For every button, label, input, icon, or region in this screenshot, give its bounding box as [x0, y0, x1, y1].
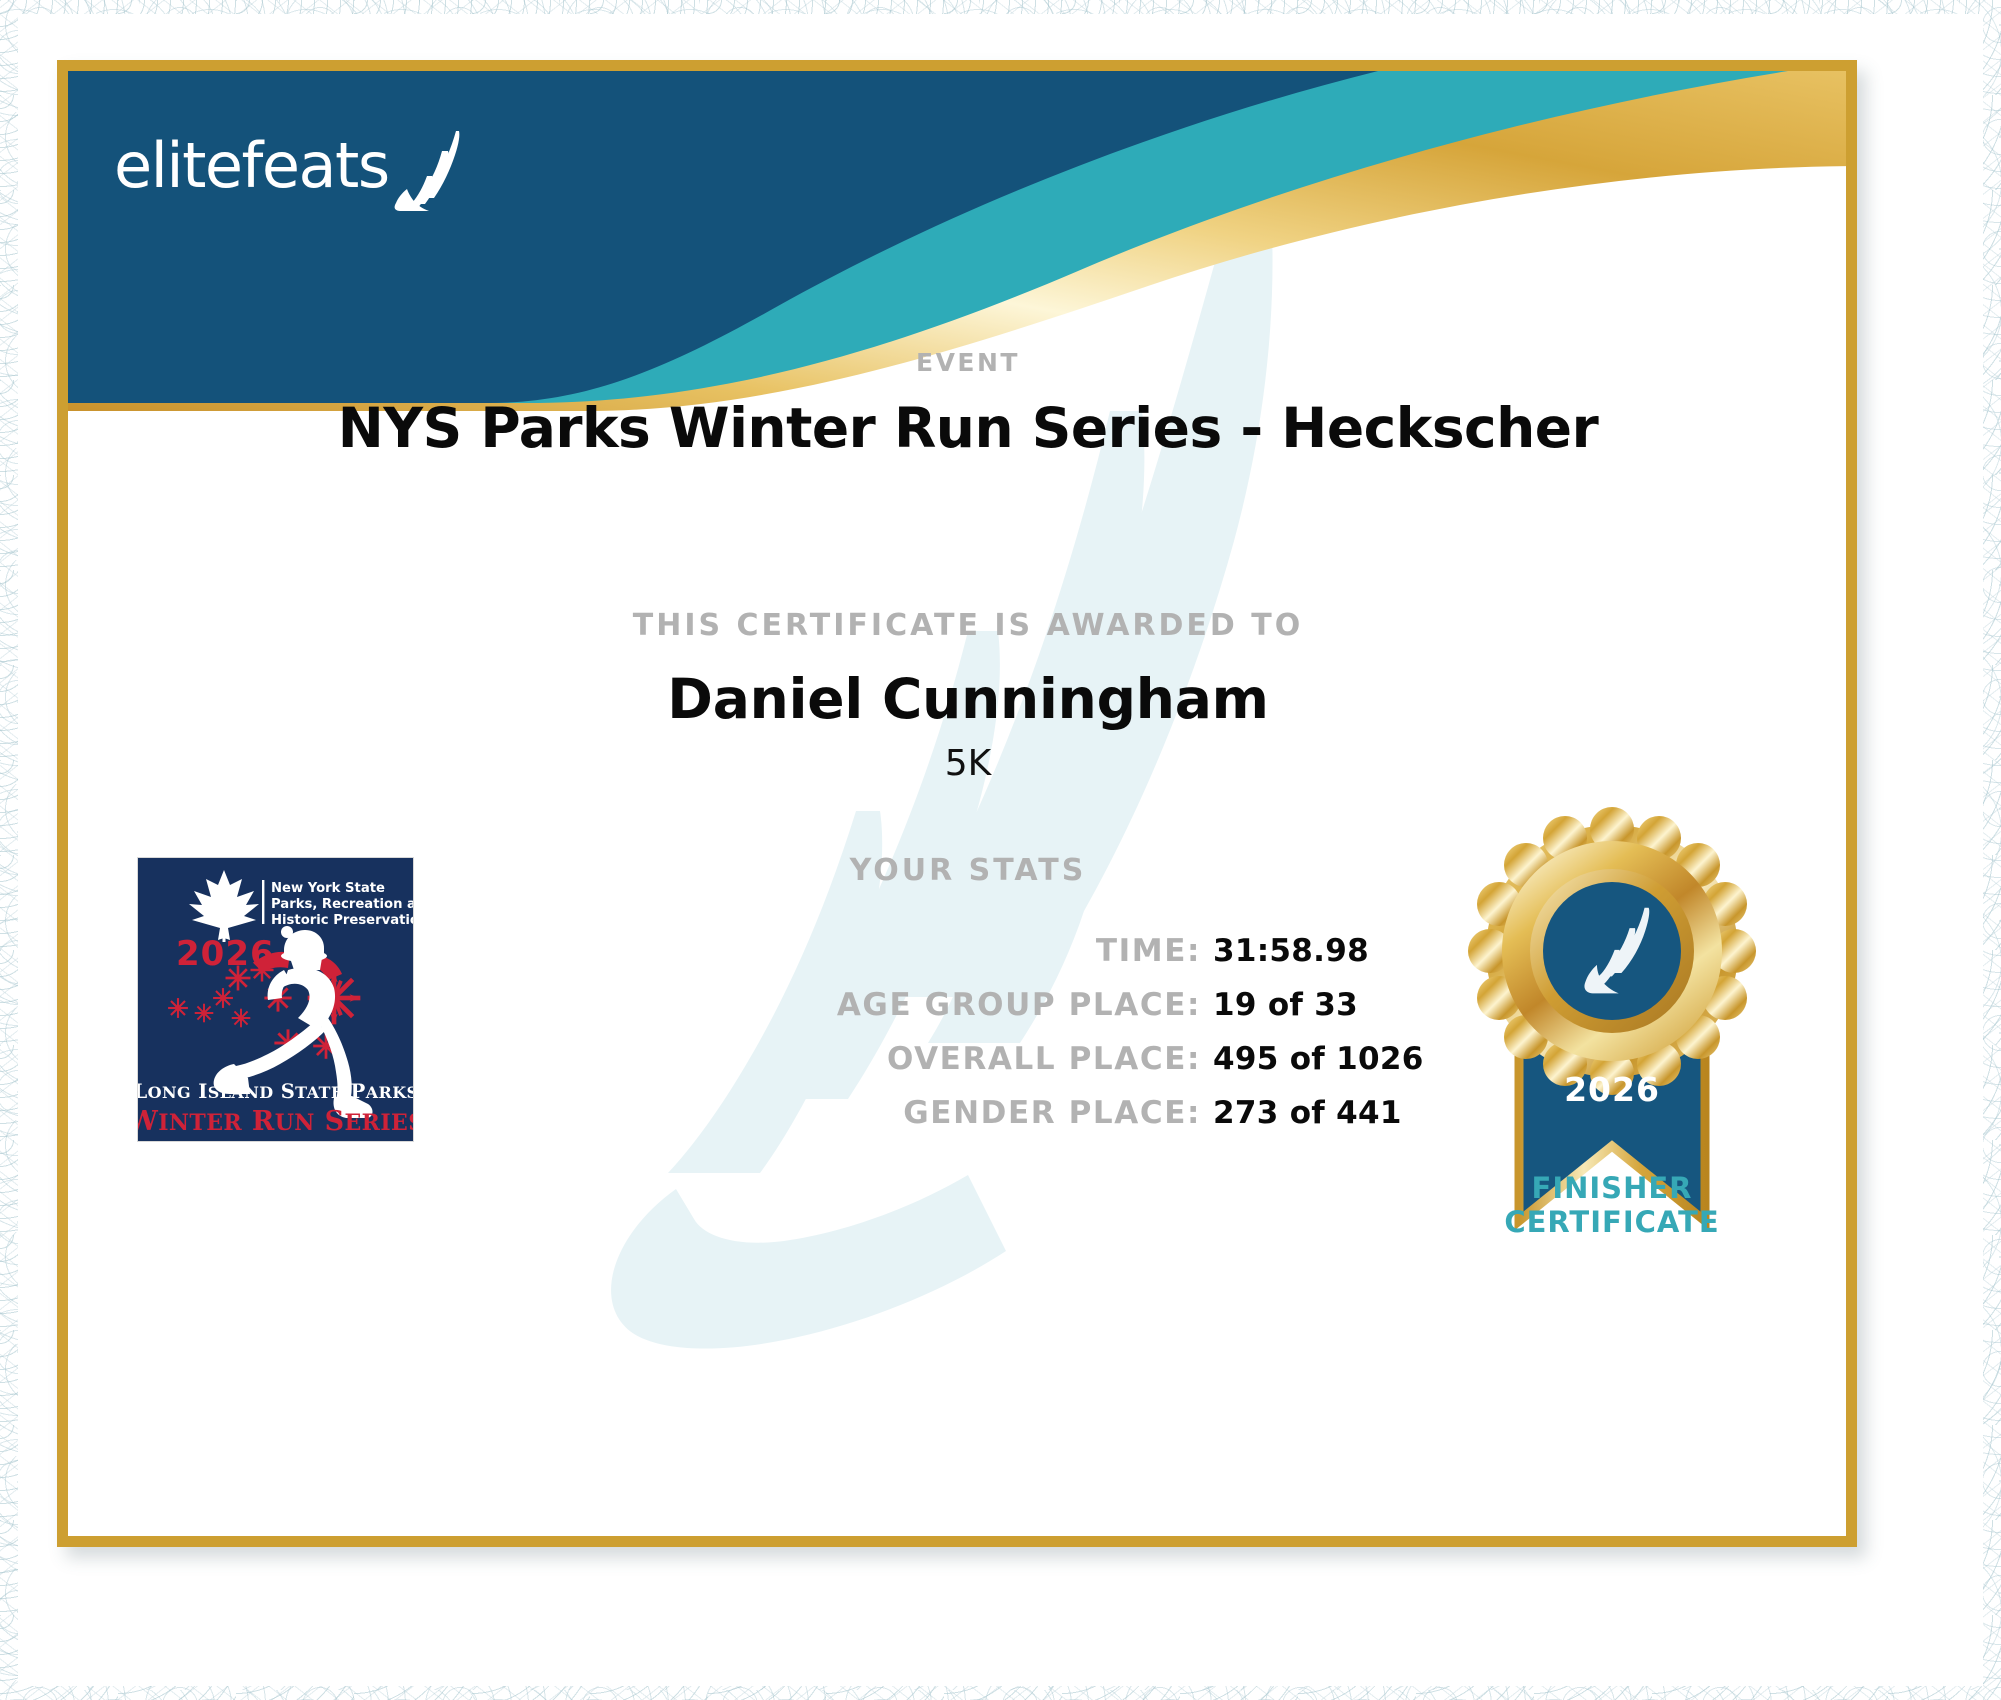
series-line-2: WINTER RUN SERIES	[138, 1106, 414, 1137]
stats-label: YOUR STATS	[68, 853, 1846, 888]
race-series-logo-art: New York State Parks, Recreation and His…	[138, 858, 414, 1142]
medal-year: 2026	[1564, 1070, 1660, 1109]
finisher-line-1: FINISHER	[1447, 1171, 1777, 1205]
finisher-certificate-caption: FINISHER CERTIFICATE	[1447, 1171, 1777, 1239]
stat-key: AGE GROUP PLACE:	[837, 987, 1201, 1023]
winged-foot-icon	[393, 129, 471, 211]
recipient-name: Daniel Cunningham	[68, 667, 1846, 731]
stat-key: GENDER PLACE:	[903, 1095, 1201, 1131]
stat-value: 273 of 441	[1213, 1095, 1428, 1131]
stat-value: 495 of 1026	[1213, 1041, 1428, 1077]
brand-wordmark: elitefeats	[114, 135, 389, 197]
finisher-line-2: CERTIFICATE	[1447, 1205, 1777, 1239]
stat-key: TIME:	[1096, 933, 1201, 969]
event-title: NYS Parks Winter Run Series - Heckscher	[68, 396, 1846, 460]
certificate-page: elitefeats EVENT NYS Parks Winter Run Se…	[0, 0, 2001, 1700]
stat-key: OVERALL PLACE:	[887, 1041, 1201, 1077]
certificate-panel: elitefeats EVENT NYS Parks Winter Run Se…	[57, 60, 1857, 1547]
agency-line-2: Parks, Recreation and	[271, 897, 414, 912]
stat-value: 19 of 33	[1213, 987, 1428, 1023]
awarded-label: THIS CERTIFICATE IS AWARDED TO	[68, 608, 1846, 643]
stat-value: 31:58.98	[1213, 933, 1428, 969]
race-series-logo: New York State Parks, Recreation and His…	[137, 857, 414, 1142]
certificate-inner: elitefeats EVENT NYS Parks Winter Run Se…	[68, 71, 1846, 1536]
agency-line-3: Historic Preservation	[271, 913, 414, 928]
event-label: EVENT	[68, 348, 1846, 377]
series-line-1: LONG ISLAND STATE PARKS	[138, 1080, 414, 1103]
elitefeats-logo: elitefeats	[114, 129, 471, 197]
race-distance: 5K	[68, 743, 1846, 784]
